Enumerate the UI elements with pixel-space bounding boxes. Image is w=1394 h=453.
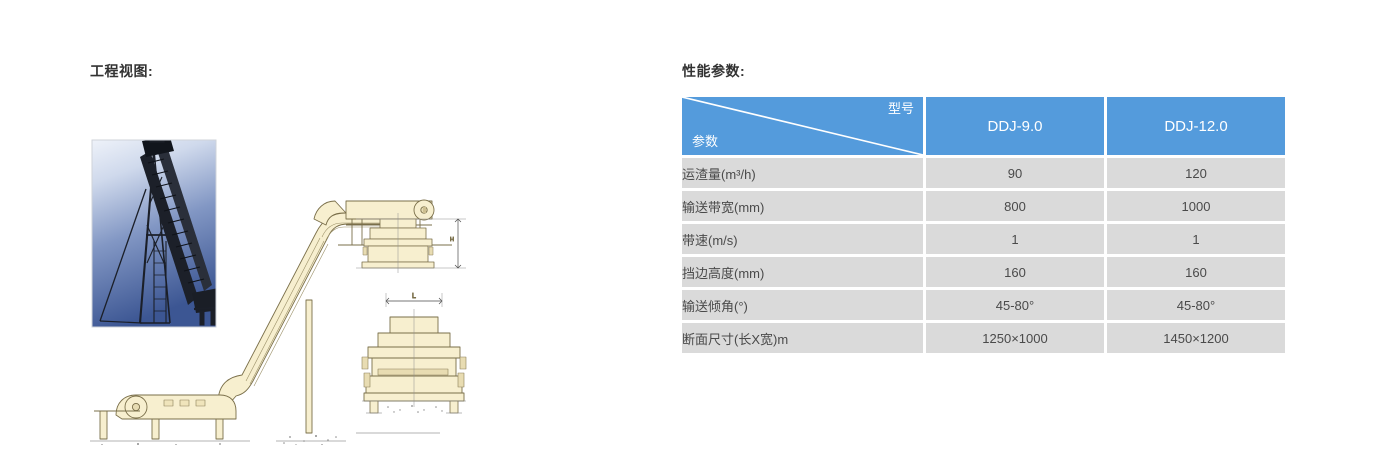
- product-detail-page: 工程视图:: [0, 0, 1394, 453]
- header-model-ddj-12: DDJ-12.0: [1104, 97, 1285, 155]
- cross-section-lower: L: [362, 293, 466, 413]
- row-value: 1250×1000: [923, 320, 1104, 353]
- diagonal-divider-line: [682, 97, 923, 155]
- table-row: 挡边高度(mm) 160 160: [682, 254, 1285, 287]
- row-label: 断面尺寸(长X宽)m: [682, 320, 923, 353]
- dimension-label-l: L: [412, 293, 416, 300]
- row-label: 运渣量(m³/h): [682, 155, 923, 188]
- table-row: 带速(m/s) 1 1: [682, 221, 1285, 254]
- table-row: 输送倾角(°) 45-80° 45-80°: [682, 287, 1285, 320]
- performance-spec-table: 型号 参数 DDJ-9.0 DDJ-12.0 运渣量(m³/h) 90 120 …: [682, 97, 1285, 353]
- row-label: 输送倾角(°): [682, 287, 923, 320]
- row-value: 1: [923, 221, 1104, 254]
- row-value: 1000: [1104, 188, 1285, 221]
- row-label: 挡边高度(mm): [682, 254, 923, 287]
- engineering-view-title: 工程视图:: [90, 61, 153, 81]
- row-label: 带速(m/s): [682, 221, 923, 254]
- row-value: 45-80°: [1104, 287, 1285, 320]
- steep-incline-conveyor-photo: [92, 133, 230, 327]
- row-value: 160: [923, 254, 1104, 287]
- header-model-ddj-9: DDJ-9.0: [923, 97, 1104, 155]
- header-model-label: 型号: [888, 101, 914, 117]
- row-value: 1: [1104, 221, 1285, 254]
- row-label: 输送带宽(mm): [682, 188, 923, 221]
- row-value: 800: [923, 188, 1104, 221]
- header-corner-cell: 型号 参数: [682, 97, 923, 155]
- header-param-label: 参数: [692, 134, 718, 150]
- table-row: 运渣量(m³/h) 90 120: [682, 155, 1285, 188]
- engineering-view-figure: H: [80, 85, 640, 445]
- dimension-label-h: H: [450, 237, 454, 243]
- spec-table-title: 性能参数:: [682, 61, 745, 81]
- table-row: 断面尺寸(长X宽)m 1250×1000 1450×1200: [682, 320, 1285, 353]
- row-value: 45-80°: [923, 287, 1104, 320]
- table-row: 输送带宽(mm) 800 1000: [682, 188, 1285, 221]
- row-value: 120: [1104, 155, 1285, 188]
- row-value: 160: [1104, 254, 1285, 287]
- row-value: 1450×1200: [1104, 320, 1285, 353]
- table-header-row: 型号 参数 DDJ-9.0 DDJ-12.0: [682, 97, 1285, 155]
- row-value: 90: [923, 155, 1104, 188]
